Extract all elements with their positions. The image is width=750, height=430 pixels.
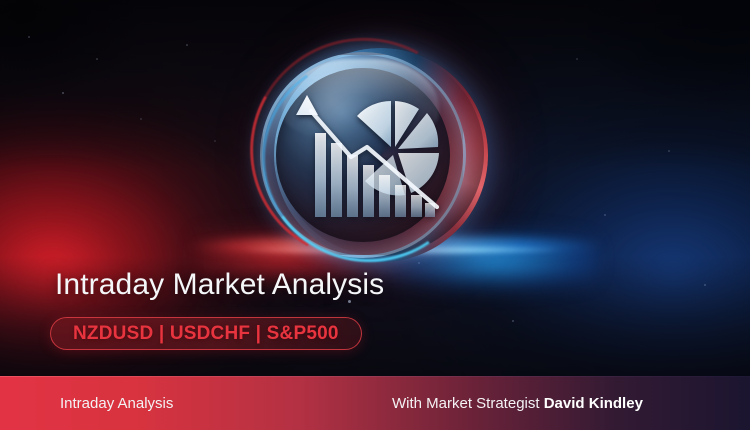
intraday-market-analysis-banner: Intraday Market Analysis NZDUSD | USDCHF…	[0, 0, 750, 430]
page-title: Intraday Market Analysis	[55, 268, 384, 302]
coin-graphic	[256, 42, 506, 277]
footer-presenter-prefix: With Market Strategist	[392, 395, 540, 412]
footer-presenter-name: David Kindley	[544, 395, 643, 412]
footer-presenter: With Market Strategist David Kindley	[392, 395, 643, 412]
instruments-badge: NZDUSD | USDCHF | S&P500	[50, 317, 362, 350]
footer-top-edge	[0, 376, 750, 377]
footer-category-label: Intraday Analysis	[60, 395, 173, 412]
instruments-badge-label: NZDUSD | USDCHF | S&P500	[73, 323, 339, 345]
footer-bar: Intraday Analysis With Market Strategist…	[0, 376, 750, 430]
